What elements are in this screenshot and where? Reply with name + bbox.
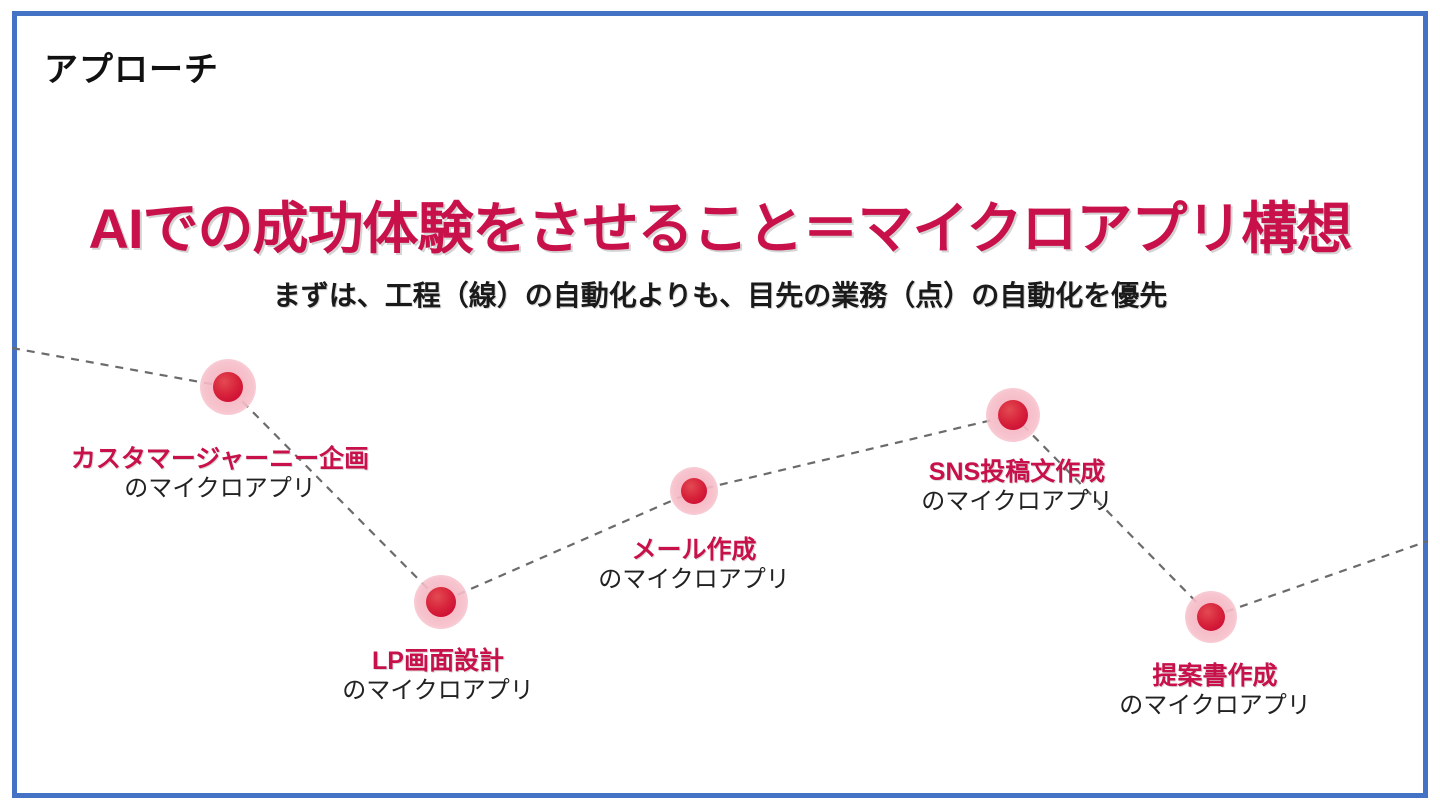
node-label-lp-screen-design: LP画面設計のマイクロアプリ xyxy=(342,647,534,705)
node-label-sub: のマイクロアプリ xyxy=(342,677,534,705)
diagram-node-proposal-creation[interactable] xyxy=(1185,591,1237,643)
node-label-sub: のマイクロアプリ xyxy=(598,566,790,594)
diagram-node-sns-post-creation[interactable] xyxy=(986,388,1040,442)
node-label-proposal-creation: 提案書作成のマイクロアプリ xyxy=(1119,662,1311,720)
node-core-dot-icon xyxy=(998,400,1028,430)
node-label-main: カスタマージャーニー企画 xyxy=(71,445,369,475)
diagram-node-mail-creation[interactable] xyxy=(670,467,718,515)
node-label-sub: のマイクロアプリ xyxy=(71,475,369,503)
node-label-sns-post-creation: SNS投稿文作成のマイクロアプリ xyxy=(921,458,1113,516)
node-label-main: メール作成 xyxy=(598,536,790,566)
diagram-node-lp-screen-design[interactable] xyxy=(414,575,468,629)
slide-canvas: アプローチ AIでの成功体験をさせること＝マイクロアプリ構想 まずは、工程（線）… xyxy=(0,0,1440,810)
node-label-main: LP画面設計 xyxy=(342,647,534,677)
node-core-dot-icon xyxy=(426,587,456,617)
node-label-sub: のマイクロアプリ xyxy=(1119,692,1311,720)
diagram-node-customer-journey[interactable] xyxy=(200,359,256,415)
node-label-main: SNS投稿文作成 xyxy=(921,458,1113,488)
node-label-mail-creation: メール作成のマイクロアプリ xyxy=(598,536,790,594)
node-core-dot-icon xyxy=(1197,603,1225,631)
node-core-dot-icon xyxy=(681,478,707,504)
node-label-customer-journey: カスタマージャーニー企画のマイクロアプリ xyxy=(71,445,369,503)
node-core-dot-icon xyxy=(213,372,243,402)
node-label-main: 提案書作成 xyxy=(1119,662,1311,692)
node-label-sub: のマイクロアプリ xyxy=(921,488,1113,516)
